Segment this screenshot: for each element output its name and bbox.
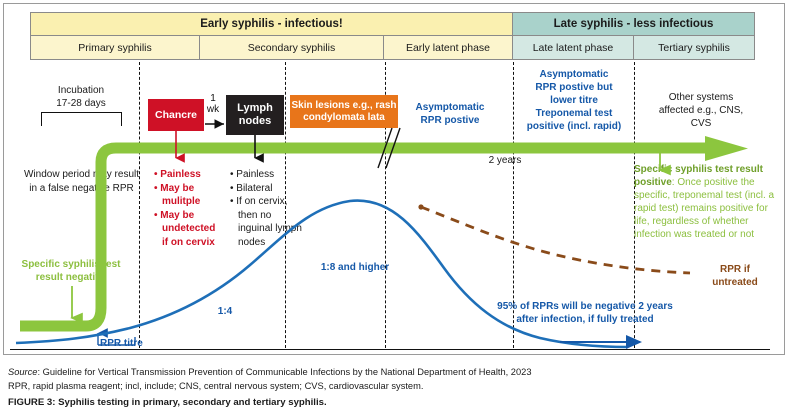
incubation-bracket <box>41 112 122 126</box>
rpr-titre-label: RPR titre <box>100 338 180 349</box>
treated-note-l2: after infection, if fully treated <box>516 314 653 325</box>
early-latent-annotation: Asymptomatic RPR postive <box>392 101 508 127</box>
skin-l2: condylomata lata <box>303 112 385 123</box>
titre-1-8-label: 1:8 and higher <box>310 261 400 274</box>
window-period-text: Window period may result in a false nega… <box>19 168 144 196</box>
tertiary-l3: CVS <box>691 118 712 129</box>
treated-note-l1: 95% of RPRs will be negative 2 years <box>497 301 673 312</box>
baseline-axis <box>10 349 770 350</box>
specific-test-negative-text: Specific syphilis test result negative <box>10 258 132 284</box>
divider-primary <box>139 62 140 348</box>
skin-lesions-box: Skin lesions e.g., rash condylomata lata <box>290 95 398 128</box>
figure-caption: FIGURE 3: Syphilis testing in primary, s… <box>8 397 327 408</box>
footer-abbreviations: RPR, rapid plasma reagent; incl, include… <box>8 380 778 394</box>
phase-tertiary-syphilis: Tertiary syphilis <box>634 36 755 60</box>
lymph-l1: Lymph <box>237 102 273 114</box>
lymph-bullet-2: • Bilateral <box>230 182 304 196</box>
late-latent-l3: lower titre <box>550 95 598 106</box>
band-late-syphilis: Late syphilis - less infectious <box>513 12 755 36</box>
lymph-bullet-3: • If on cervix, then no inguinal lymph n… <box>230 195 304 249</box>
phase-late-latent: Late latent phase <box>513 36 634 60</box>
chancre-box: Chancre <box>148 99 204 131</box>
tertiary-l2: affected e.g., CNS, <box>659 105 743 116</box>
footer-source: Source: Guideline for Vertical Transmiss… <box>8 366 778 380</box>
chancre-bullets: • Painless • May be mulitple • May be un… <box>154 168 224 249</box>
phase-primary-syphilis: Primary syphilis <box>30 36 200 60</box>
chancre-bullet-3: • May be undetected if on cervix <box>154 209 224 250</box>
footer-source-text: : Guideline for Vertical Transmission Pr… <box>37 367 531 377</box>
incubation-line2: 17-28 days <box>56 98 105 109</box>
chancre-bullet-1: • Painless <box>154 168 224 182</box>
one-week-l2: wk <box>207 104 219 115</box>
band-early-syphilis: Early syphilis - infectious! <box>30 12 513 36</box>
chancre-bullet-3-text: May be undetected if on cervix <box>160 210 215 248</box>
one-week-label: 1 wk <box>200 93 226 115</box>
tertiary-l1: Other systems <box>669 92 733 103</box>
lymph-l2: nodes <box>239 115 271 127</box>
lymph-bullet-2-text: Bilateral <box>236 183 272 194</box>
lymph-nodes-box: Lymph nodes <box>226 95 284 135</box>
rpr-untreated-label: RPR if untreated <box>690 263 780 289</box>
late-latent-l1: Asymptomatic <box>540 69 609 80</box>
phase-early-latent: Early latent phase <box>384 36 513 60</box>
early-latent-l2: RPR postive <box>421 115 480 126</box>
one-week-l1: 1 <box>210 93 216 104</box>
chancre-bullet-1-text: Painless <box>160 169 201 180</box>
chancre-bullet-2-text: May be mulitple <box>160 183 200 208</box>
lymph-bullets: • Painless • Bilateral • If on cervix, t… <box>230 168 304 249</box>
titre-1-4-label: 1:4 <box>205 305 245 318</box>
rpr-untreated-l1: RPR if <box>720 264 750 275</box>
rpr-untreated-l2: untreated <box>712 277 758 288</box>
footer-source-label: Source <box>8 367 37 377</box>
lymph-bullet-1: • Painless <box>230 168 304 182</box>
lymph-bullet-3-text: If on cervix, then no inguinal lymph nod… <box>236 196 302 248</box>
late-latent-annotation: Asymptomatic RPR postive but lower titre… <box>513 68 635 133</box>
figure-footer: Source: Guideline for Vertical Transmiss… <box>8 366 778 393</box>
lymph-bullet-1-text: Painless <box>236 169 274 180</box>
phase-secondary-syphilis: Secondary syphilis <box>200 36 384 60</box>
treated-note: 95% of RPRs will be negative 2 years aft… <box>460 300 710 326</box>
two-years-label: 2 years <box>470 155 540 166</box>
tertiary-annotation: Other systems affected e.g., CNS, CVS <box>640 91 762 130</box>
incubation-label: Incubation 17-28 days <box>26 84 136 110</box>
late-latent-l2: RPR postive but <box>535 82 612 93</box>
specific-test-positive-text: Specific syphilis test result positive: … <box>634 163 784 241</box>
incubation-line1: Incubation <box>58 85 104 96</box>
skin-l1: Skin lesions e.g., rash <box>291 100 396 111</box>
early-latent-l1: Asymptomatic <box>416 102 485 113</box>
late-latent-l4: Treponemal test <box>536 108 613 119</box>
chancre-bullet-2: • May be mulitple <box>154 182 224 209</box>
late-latent-l5: positive (incl. rapid) <box>527 121 621 132</box>
figure-root: Early syphilis - infectious! Late syphil… <box>0 0 790 413</box>
